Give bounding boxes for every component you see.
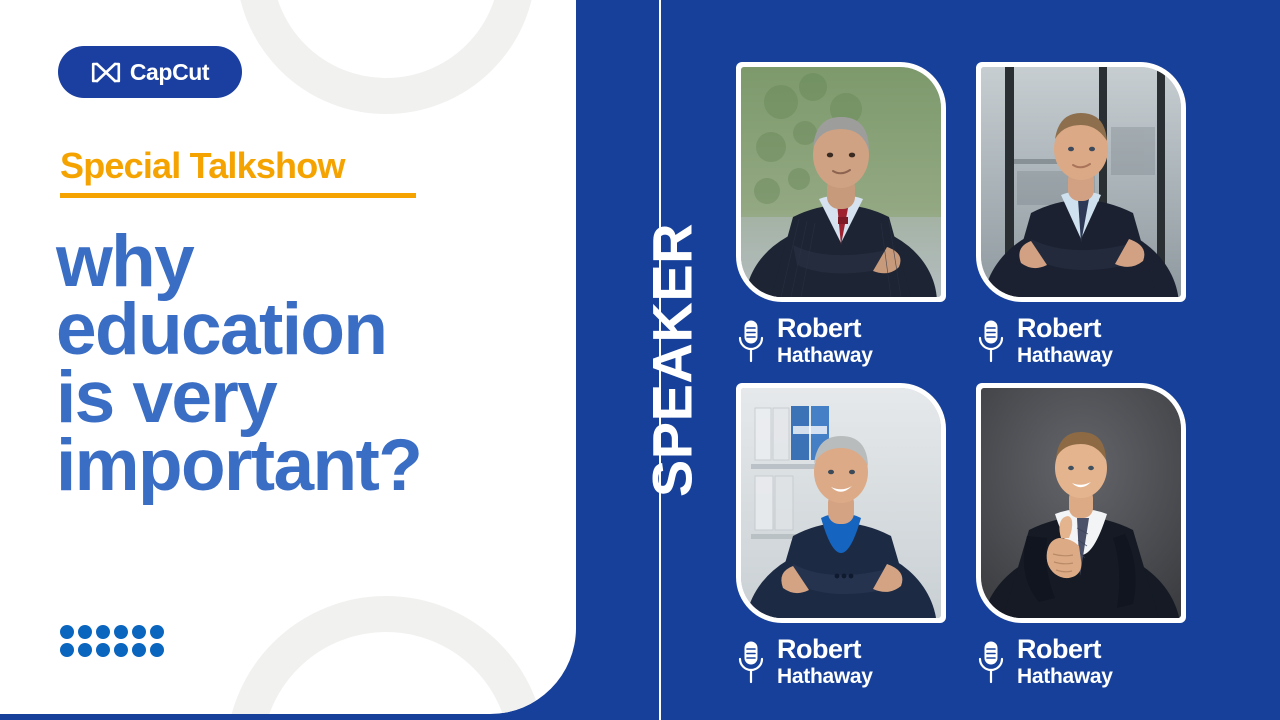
dot	[60, 643, 74, 657]
capcut-bowtie-icon	[91, 62, 121, 83]
headline-line-2: education	[56, 296, 556, 364]
speaker-last-name: Hathaway	[1017, 345, 1113, 366]
dot	[96, 643, 110, 657]
speaker-name-row: Robert Hathaway	[976, 636, 1186, 687]
speaker-card[interactable]: Robert Hathaway	[736, 62, 946, 375]
speaker-last-name: Hathaway	[777, 666, 873, 687]
left-white-panel: CapCut Special Talkshow why education is…	[0, 0, 576, 714]
speaker-photo	[981, 67, 1181, 297]
speaker-photo	[981, 388, 1181, 618]
microphone-icon	[976, 640, 1006, 684]
speaker-card[interactable]: Robert Hathaway	[976, 62, 1186, 375]
dot	[150, 643, 164, 657]
dot	[150, 625, 164, 639]
microphone-icon	[736, 640, 766, 684]
dot-grid-decoration	[60, 625, 164, 657]
capcut-logo-badge[interactable]: CapCut	[58, 46, 242, 98]
eyebrow-group: Special Talkshow	[60, 148, 416, 198]
headline-line-4: important?	[56, 432, 556, 500]
speaker-photo-frame	[736, 62, 946, 302]
decorative-ring-bottom	[226, 596, 546, 714]
speaker-photo-frame	[736, 383, 946, 623]
speaker-name-row: Robert Hathaway	[976, 315, 1186, 366]
speaker-first-name: Robert	[1017, 636, 1113, 663]
dot	[114, 625, 128, 639]
speaker-card[interactable]: Robert Hathaway	[736, 383, 946, 696]
poster-canvas: CapCut Special Talkshow why education is…	[0, 0, 1280, 720]
speaker-name: Robert Hathaway	[1017, 636, 1113, 687]
dot	[96, 625, 110, 639]
speaker-photo	[741, 388, 941, 618]
speaker-rail-label: SPEAKER	[640, 223, 705, 497]
dot	[78, 643, 92, 657]
dot	[60, 625, 74, 639]
microphone-icon	[736, 319, 766, 363]
headline-line-3: is very	[56, 364, 556, 432]
speaker-card[interactable]: Robert Hathaway	[976, 383, 1186, 696]
speaker-first-name: Robert	[777, 315, 873, 342]
decorative-ring-top	[236, 0, 536, 114]
speaker-rail: SPEAKER	[632, 0, 712, 720]
dot	[132, 643, 146, 657]
speaker-name: Robert Hathaway	[1017, 315, 1113, 366]
dot	[114, 643, 128, 657]
speaker-first-name: Robert	[1017, 315, 1113, 342]
speaker-last-name: Hathaway	[777, 345, 873, 366]
speaker-photo-frame	[976, 383, 1186, 623]
headline-line-1: why	[56, 228, 556, 296]
speaker-name: Robert Hathaway	[777, 315, 873, 366]
eyebrow-text: Special Talkshow	[60, 148, 416, 184]
microphone-icon	[976, 319, 1006, 363]
speaker-last-name: Hathaway	[1017, 666, 1113, 687]
speaker-photo	[741, 67, 941, 297]
speaker-photo-frame	[976, 62, 1186, 302]
eyebrow-underline	[60, 193, 416, 198]
page-title: why education is very important?	[56, 228, 556, 500]
dot	[132, 625, 146, 639]
speaker-first-name: Robert	[777, 636, 873, 663]
speaker-name-row: Robert Hathaway	[736, 636, 946, 687]
dot	[78, 625, 92, 639]
speaker-grid: Robert Hathaway	[736, 62, 1216, 682]
speaker-name: Robert Hathaway	[777, 636, 873, 687]
speaker-name-row: Robert Hathaway	[736, 315, 946, 366]
capcut-wordmark: CapCut	[130, 59, 209, 86]
